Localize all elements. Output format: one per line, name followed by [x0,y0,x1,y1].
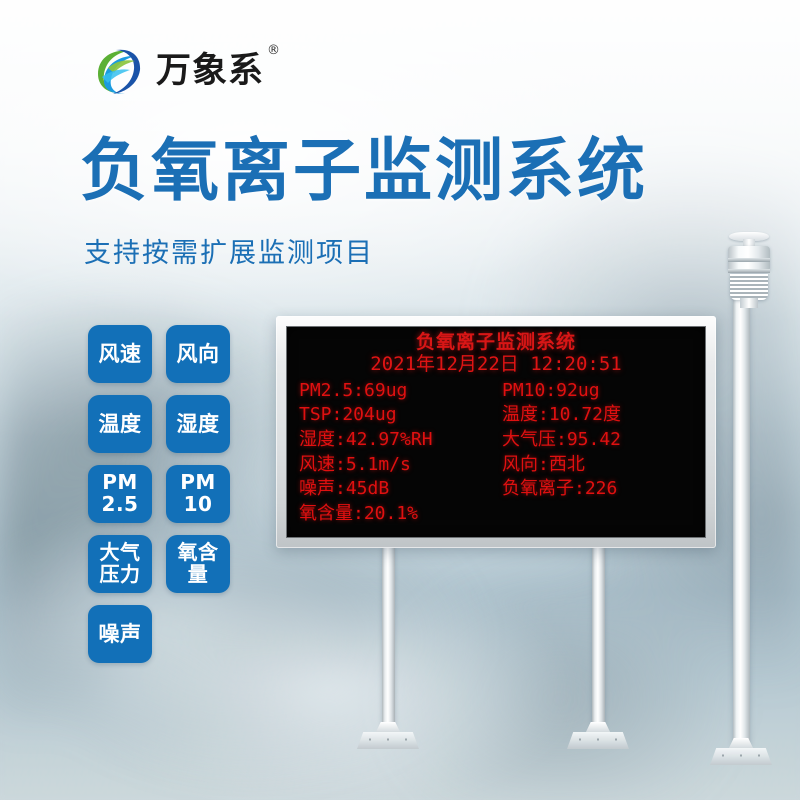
tag-label: 风速 [99,343,142,366]
feature-tag-grid: 风速 风向 温度 湿度 PM 2.5 PM 10 大气 压力 氧含 量 噪声 [88,325,236,663]
led-reading-pm10: PM10:92ug [502,379,699,404]
feature-tag-pm25[interactable]: PM 2.5 [88,465,152,523]
sensor-radiation-shield [730,274,768,300]
led-screen: 负氧离子监测系统 2021年12月22日 12:20:51 PM2.5:69ug… [286,326,706,538]
weather-sensor-head-icon [718,232,780,308]
base-flange-left [357,732,419,749]
led-screen-datetime: 2021年12月22日 12:20:51 [287,354,705,375]
feature-tag-noise[interactable]: 噪声 [88,605,152,663]
support-post-right [592,546,605,730]
brand-name-text: 万象系 [156,51,264,91]
led-reading-negative-ions: 负氧离子:226 [502,477,699,502]
product-poster: 万象系® 负氧离子监测系统 支持按需扩展监测项目 风速 风向 温度 湿度 PM … [0,0,800,800]
tag-label: 风向 [177,343,220,366]
page-subtitle: 支持按需扩展监测项目 [84,240,374,267]
led-reading-pm25: PM2.5:69ug [299,379,496,404]
led-reading-humidity: 湿度:42.97%RH [299,428,496,453]
tag-label-line1: 大气 [100,542,141,564]
brand-name: 万象系® [156,54,264,89]
feature-tag-humidity[interactable]: 湿度 [166,395,230,453]
feature-tag-wind-speed[interactable]: 风速 [88,325,152,383]
feature-tag-wind-direction[interactable]: 风向 [166,325,230,383]
led-display-board: 负氧离子监测系统 2021年12月22日 12:20:51 PM2.5:69ug… [276,316,716,548]
sensor-band-lower [728,269,770,273]
sensor-mast-pole [733,300,750,748]
feature-tag-pm10[interactable]: PM 10 [166,465,230,523]
tag-label-line2: 2.5 [102,494,139,516]
sensor-foot [740,298,758,308]
brand-logo: 万象系® [92,44,264,98]
led-reading-tsp: TSP:204ug [299,403,496,428]
page-title: 负氧离子监测系统 [80,138,648,206]
led-reading-oxygen: 氧含量:20.1% [299,502,496,527]
tag-label-line1: PM [180,472,216,494]
led-screen-title: 负氧离子监测系统 [287,332,705,353]
led-reading-wind-speed: 风速:5.1m/s [299,453,496,478]
tag-label: 噪声 [99,623,142,646]
feature-tag-oxygen-content[interactable]: 氧含 量 [166,535,230,593]
base-flange-right [567,732,629,749]
tag-label-line2: 量 [188,564,209,586]
globe-swirl-logo-icon [92,44,146,98]
led-readings-grid: PM2.5:69ug PM10:92ug TSP:204ug 温度:10.72度… [287,379,705,527]
support-post-left [382,546,395,730]
tag-label-line2: 压力 [100,564,141,586]
feature-tag-air-pressure[interactable]: 大气 压力 [88,535,152,593]
tag-label: 湿度 [177,413,220,436]
led-reading-pressure: 大气压:95.42 [502,428,699,453]
feature-tag-temperature[interactable]: 温度 [88,395,152,453]
tag-label-line1: 氧含 [178,542,219,564]
led-reading-wind-direction: 风向:西北 [502,453,699,478]
led-reading-noise: 噪声:45dB [299,477,496,502]
tag-label-line1: PM [102,472,138,494]
tag-label-line2: 10 [184,494,213,516]
tag-label: 温度 [99,413,142,436]
registered-mark: ® [267,44,281,57]
base-flange-pole [710,748,772,765]
led-reading-temperature: 温度:10.72度 [502,403,699,428]
sensor-band-upper [728,258,770,262]
